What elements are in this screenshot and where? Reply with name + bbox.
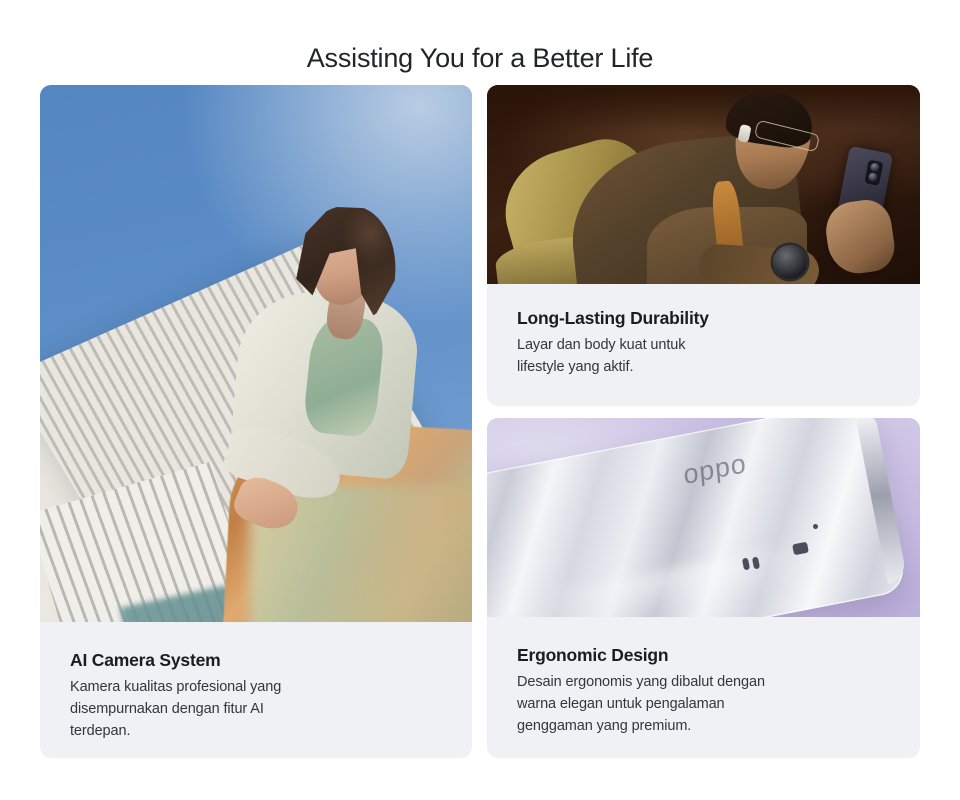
card-image-long-lasting-durability: [487, 85, 920, 284]
card-description: Layar dan body kuat untuk lifestyle yang…: [517, 334, 890, 378]
feature-card-long-lasting-durability[interactable]: Long-Lasting Durability Layar dan body k…: [487, 85, 920, 406]
wristwatch-shape: [773, 245, 807, 279]
card-image-ai-camera-system: [40, 85, 472, 622]
camera-module-icon: [863, 158, 885, 187]
card-image-ergonomic-design: oppo: [487, 418, 920, 617]
feature-card-ai-camera-system[interactable]: AI Camera System Kamera kualitas profesi…: [40, 85, 472, 758]
card-description: Kamera kualitas profesional yang disempu…: [70, 676, 442, 742]
card-heading: Long-Lasting Durability: [517, 306, 890, 330]
card-description: Desain ergonomis yang dibalut dengan war…: [517, 671, 890, 737]
wall-highlight: [487, 85, 920, 131]
feature-card-ergonomic-design[interactable]: oppo Ergonomic Design Desain ergonomis y…: [487, 418, 920, 758]
card-text-ergonomic-design: Ergonomic Design Desain ergonomis yang d…: [487, 617, 920, 737]
card-text-long-lasting-durability: Long-Lasting Durability Layar dan body k…: [487, 284, 920, 378]
card-heading: AI Camera System: [70, 648, 442, 672]
card-text-ai-camera-system: AI Camera System Kamera kualitas profesi…: [40, 622, 472, 742]
card-heading: Ergonomic Design: [517, 643, 890, 667]
feature-cards-page: Assisting You for a Better Life AI Camer…: [0, 0, 960, 800]
page-title: Assisting You for a Better Life: [0, 40, 960, 76]
